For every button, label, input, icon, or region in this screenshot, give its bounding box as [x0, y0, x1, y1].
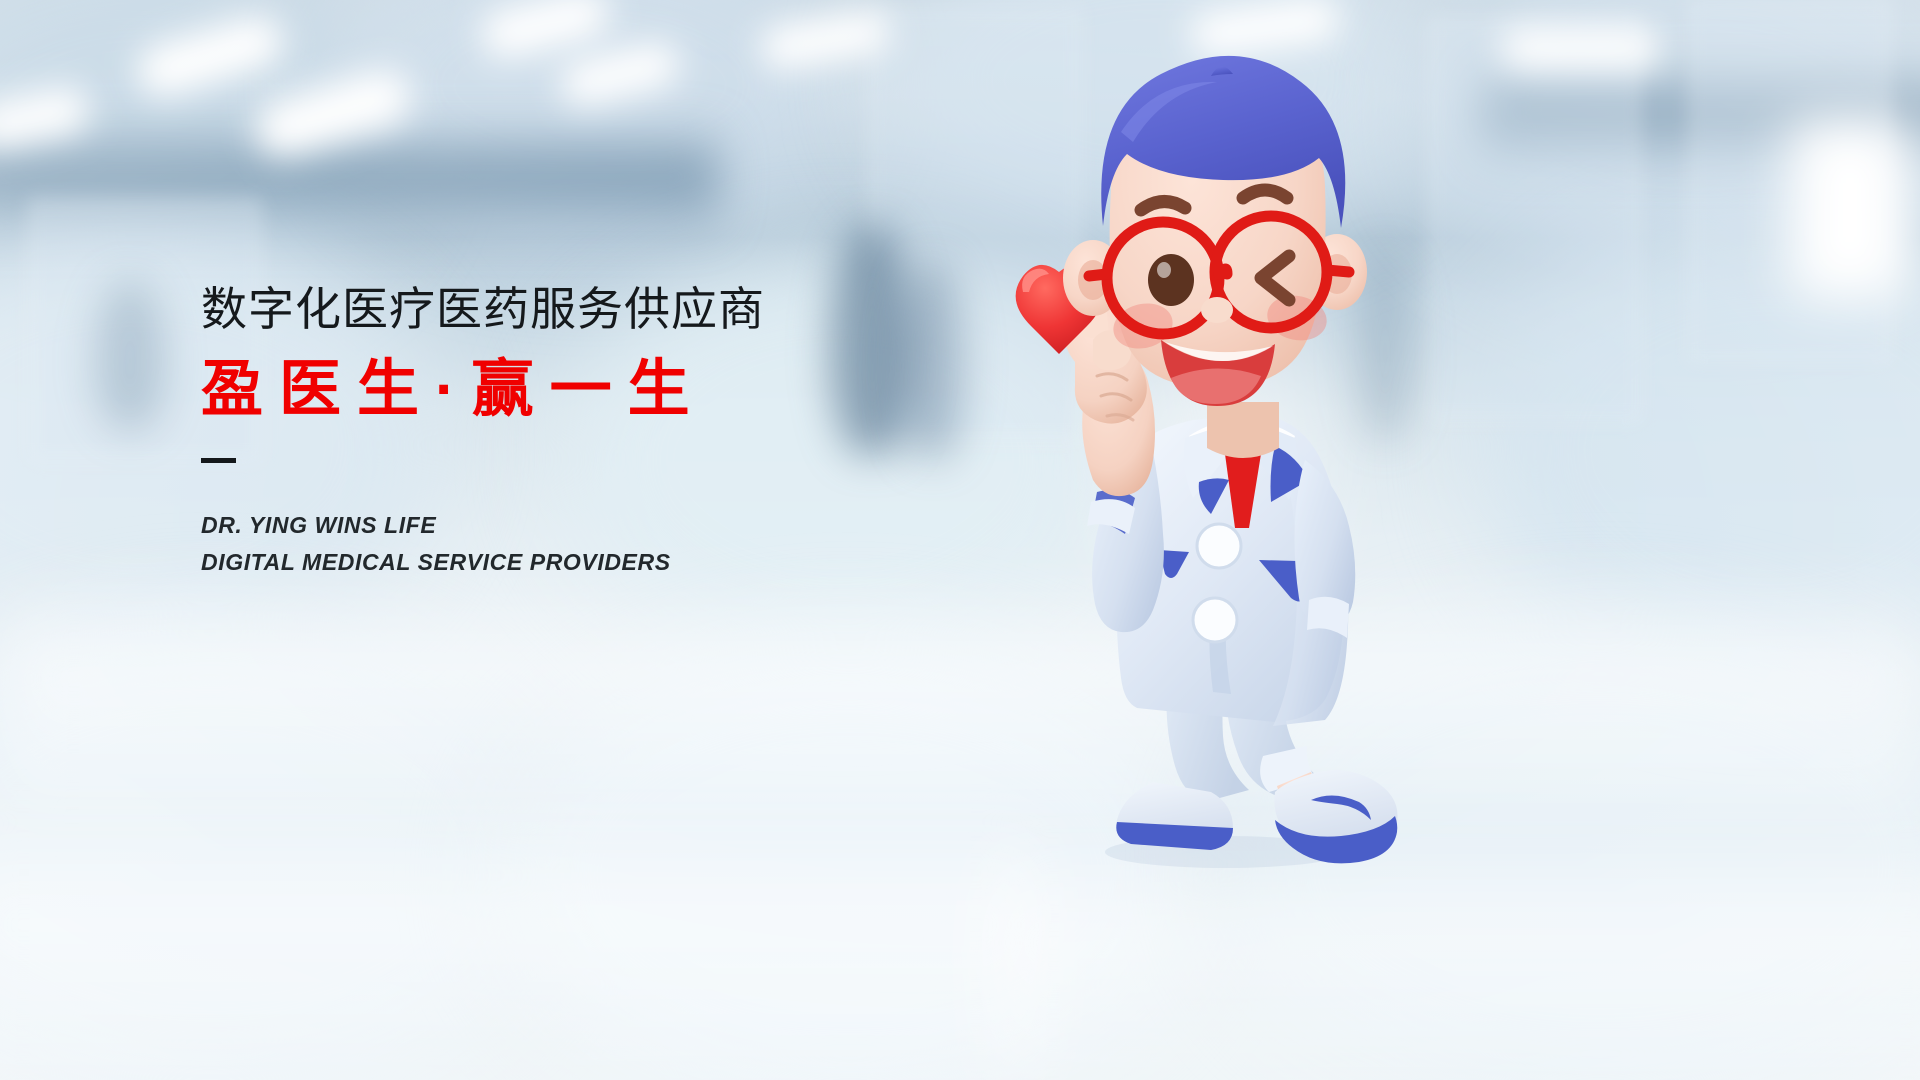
hero-copy: 数字化医疗医药服务供应商 盈医生·赢一生 DR. YING WINS LIFE …: [201, 284, 961, 581]
subtitle-block: DR. YING WINS LIFE DIGITAL MEDICAL SERVI…: [201, 507, 961, 582]
subtitle-line-1: DR. YING WINS LIFE: [201, 507, 961, 544]
subtitle-line-2: DIGITAL MEDICAL SERVICE PROVIDERS: [201, 544, 961, 581]
slogan: 盈医生·赢一生: [201, 357, 961, 424]
divider-rule: [201, 458, 236, 463]
hero-banner: 数字化医疗医药服务供应商 盈医生·赢一生 DR. YING WINS LIFE …: [0, 0, 1920, 1080]
page-title: 数字化医疗医药服务供应商: [201, 284, 961, 335]
